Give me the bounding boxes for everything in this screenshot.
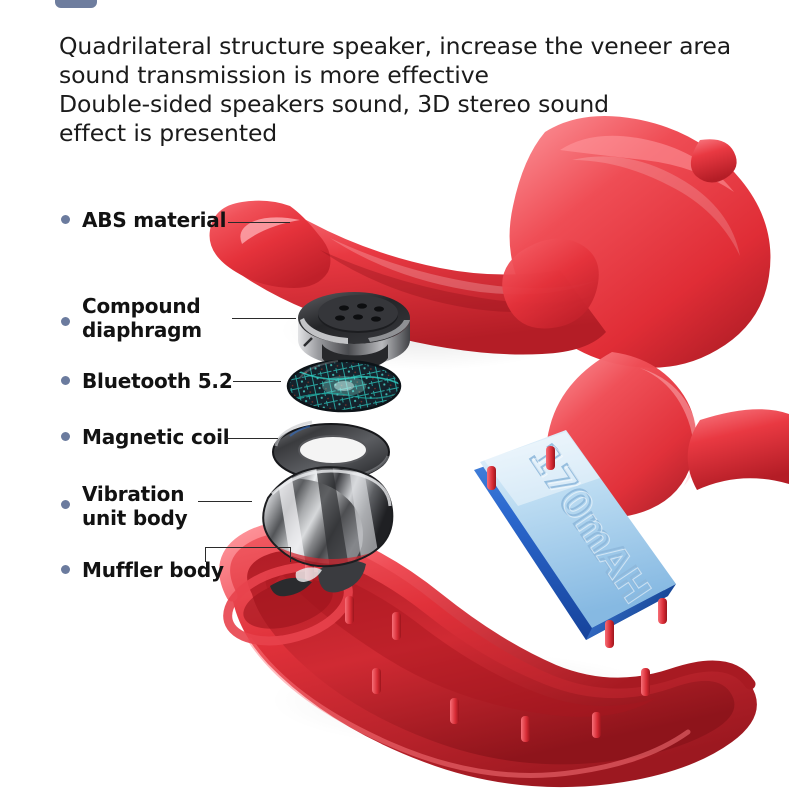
infographic-canvas: 170mAH 170mAH xyxy=(0,0,789,789)
compound-diaphragm-part xyxy=(298,292,410,369)
leader-vibration-unit xyxy=(198,501,252,502)
label-abs-material: ABS material xyxy=(82,208,226,232)
label-muffler-body: Muffler body xyxy=(82,558,224,582)
label-compound-diaphragm: Compound diaphragm xyxy=(82,294,202,342)
leader-muffler-body xyxy=(205,547,291,562)
leader-abs-material xyxy=(228,222,290,223)
leader-bluetooth xyxy=(233,381,281,382)
label-vibration-unit: Vibration unit body xyxy=(82,482,187,530)
leader-magnetic-coil xyxy=(226,438,278,439)
bullet-magnetic-coil xyxy=(61,432,70,441)
shell-right-tail xyxy=(688,409,789,490)
label-magnetic-coil: Magnetic coil xyxy=(82,425,229,449)
bullet-abs-material xyxy=(61,215,70,224)
shell-left-tip xyxy=(210,201,331,288)
leader-compound-diaphragm xyxy=(232,318,296,319)
bullet-bluetooth xyxy=(61,376,70,385)
bullet-vibration-unit xyxy=(61,500,70,509)
page-heading: Quadrilateral structure speaker, increas… xyxy=(59,32,779,148)
bullet-muffler-body xyxy=(61,565,70,574)
label-bluetooth: Bluetooth 5.2 xyxy=(82,369,233,393)
bullet-compound-diaphragm xyxy=(61,317,70,326)
